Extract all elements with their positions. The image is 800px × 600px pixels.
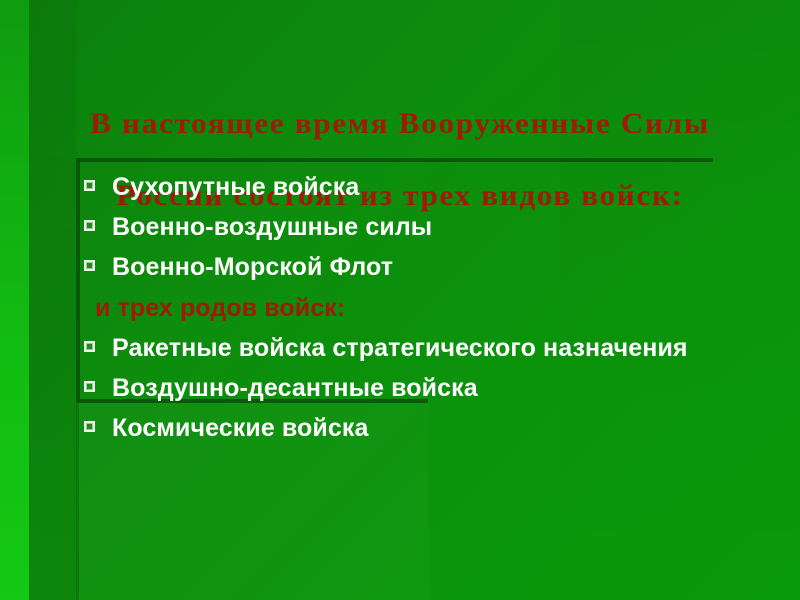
list-item-connector: и трех родов войск: <box>84 291 724 326</box>
list-item: Воздушно-десантные войска <box>84 371 724 406</box>
list-item: Военно-Морской Флот <box>84 250 724 285</box>
list-item-label: Ракетные войска стратегического назначен… <box>112 331 724 366</box>
list-item: Ракетные войска стратегического назначен… <box>84 331 724 366</box>
slide-title-line-1: В настоящее время Вооруженные Силы <box>24 106 777 142</box>
slide-body-list: Сухопутные войска Военно-воздушные силы … <box>84 170 724 447</box>
list-item-label: Военно-воздушные силы <box>112 210 724 245</box>
square-bullet-icon <box>84 341 95 352</box>
list-item: Космические войска <box>84 411 724 446</box>
list-item-label: Воздушно-десантные войска <box>112 371 724 406</box>
list-item-label: Космические войска <box>112 411 724 446</box>
list-item-label: и трех родов войск: <box>88 291 724 326</box>
square-bullet-icon <box>84 260 95 271</box>
content-box-lower-shadow-line <box>76 402 79 600</box>
square-bullet-icon <box>84 421 95 432</box>
list-item: Сухопутные войска <box>84 170 724 205</box>
square-bullet-icon <box>84 381 95 392</box>
list-item: Военно-воздушные силы <box>84 210 724 245</box>
square-bullet-icon <box>84 220 95 231</box>
square-bullet-icon <box>84 180 95 191</box>
list-item-label: Военно-Морской Флот <box>112 250 724 285</box>
presentation-slide: В настоящее время Вооруженные Силы Росси… <box>0 0 800 600</box>
list-item-label: Сухопутные войска <box>112 170 724 205</box>
